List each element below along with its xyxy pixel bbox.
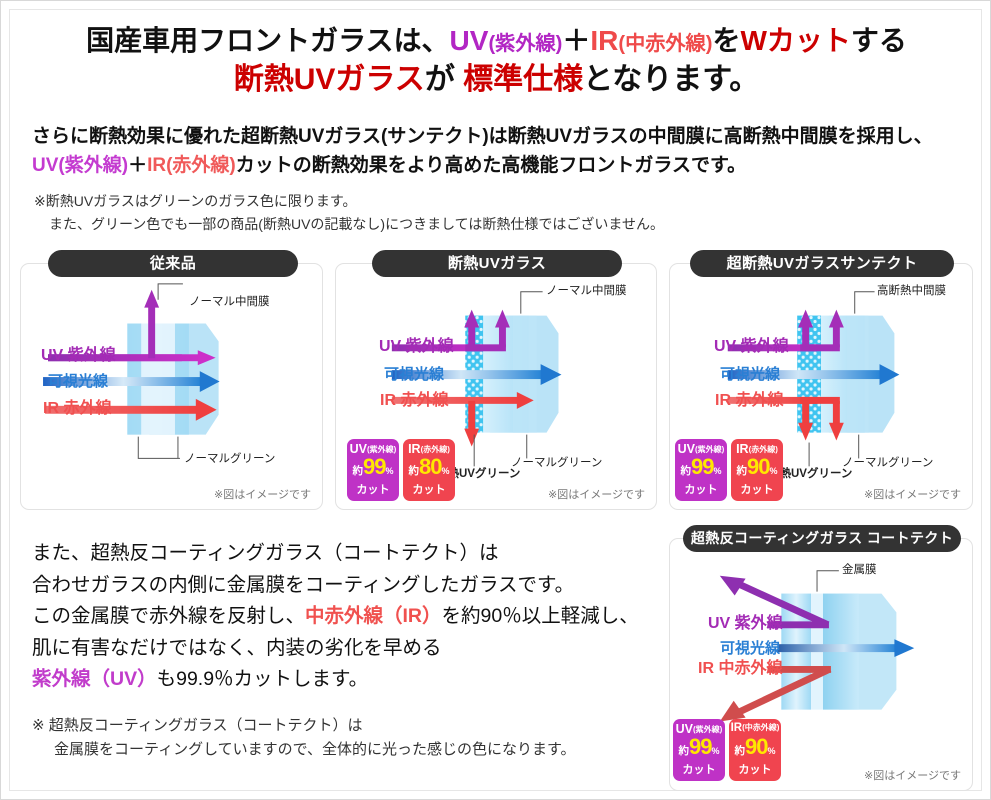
badge-ir-cut: カット bbox=[731, 485, 783, 496]
badge-ir-value: 約90% bbox=[729, 736, 781, 758]
badge-ir-kind: IR(中赤外線) bbox=[729, 723, 781, 735]
coat-tect-line-5: 紫外線（UV）も99.9％カットします。 bbox=[32, 664, 662, 696]
badge-ir: IR(中赤外線) 約90% カット bbox=[729, 719, 781, 781]
badge-group: UV(紫外線) 約99% カット IR(中赤外線) 約90% カット bbox=[673, 719, 781, 781]
label-ir: IR 赤外線 bbox=[380, 393, 448, 409]
badge-ir-kind-paren: (赤外線) bbox=[749, 445, 778, 454]
badge-uv-percent: % bbox=[385, 466, 393, 476]
coat-tect-uv-highlight: 紫外線（UV） bbox=[32, 668, 157, 690]
badge-ir-value: 約80% bbox=[403, 456, 455, 478]
headline-text-d: が bbox=[425, 63, 463, 96]
caption-normal-green: ノーマルグリーン bbox=[842, 458, 933, 470]
headline-line-1: 国産車用フロントガラスは、UV(紫外線)＋IR(中赤外線)をWカットする bbox=[10, 24, 983, 59]
badge-ir-percent: % bbox=[441, 466, 449, 476]
badge-uv-percent: % bbox=[713, 466, 721, 476]
panel-suntect: 超断熱UVガラスサンテクト bbox=[669, 263, 973, 510]
label-visible-light: 可視光線 bbox=[720, 641, 780, 656]
lead-ir-label: IR(赤外線) bbox=[147, 155, 236, 176]
headline-text-e: となります。 bbox=[583, 63, 759, 96]
bottom-disclaimer-line-1: ※ 超熱反コーティングガラス（コートテクト）は bbox=[32, 717, 363, 734]
label-ir: IR 赤外線 bbox=[43, 401, 111, 417]
label-visible-light: 可視光線 bbox=[384, 367, 444, 382]
badge-uv-kind-paren: (紫外線) bbox=[695, 445, 724, 454]
figure-note: ※図はイメージです bbox=[548, 486, 645, 502]
badge-ir-kind-paren: (赤外線) bbox=[421, 445, 450, 454]
headline-text-a: 国産車用フロントガラスは、 bbox=[86, 25, 449, 56]
headline-product-name: 断熱UVガラス bbox=[234, 63, 425, 96]
label-ir: IR 赤外線 bbox=[715, 393, 783, 409]
badge-uv-value: 約99% bbox=[675, 456, 727, 478]
badge-uv-kind-paren: (紫外線) bbox=[693, 725, 722, 734]
badge-uv-number: 99 bbox=[363, 454, 385, 479]
infographic-page: 国産車用フロントガラスは、UV(紫外線)＋IR(中赤外線)をWカットする 断熱U… bbox=[0, 0, 991, 800]
badge-uv-percent: % bbox=[711, 746, 719, 756]
caption-normal-green: ノーマルグリーン bbox=[184, 454, 275, 466]
headline-ir-paren: (中赤外線) bbox=[618, 33, 712, 55]
badge-uv-value: 約99% bbox=[347, 456, 399, 478]
badge-uv-cut: カット bbox=[347, 485, 399, 496]
label-uv: UV 紫外線 bbox=[708, 616, 783, 632]
headline-plus: ＋ bbox=[562, 25, 590, 56]
coat-tect-line-4: 肌に有害なだけではなく、内装の劣化を早める bbox=[32, 633, 662, 665]
figure-note: ※図はイメージです bbox=[214, 486, 311, 502]
headline-line-2: 断熱UVガラスが 標準仕様となります。 bbox=[10, 61, 983, 98]
badge-uv: UV(紫外線) 約99% カット bbox=[675, 439, 727, 501]
badge-ir-number: 90 bbox=[745, 734, 767, 759]
infographic-inner-frame: 国産車用フロントガラスは、UV(紫外線)＋IR(中赤外線)をWカットする 断熱U… bbox=[9, 9, 982, 791]
lead-line-2: UV(紫外線)＋IR(赤外線)カットの断熱効果をより高めた高機能フロントガラスで… bbox=[32, 151, 972, 180]
label-uv: UV 紫外線 bbox=[714, 339, 789, 355]
top-disclaimer-line-1: ※断熱UVガラスはグリーンのガラス色に限ります。 bbox=[34, 193, 357, 209]
panel-heat-insulating-uv: 断熱UVガラス bbox=[335, 263, 657, 510]
badge-uv-approx: 約 bbox=[681, 465, 692, 477]
badge-uv-approx: 約 bbox=[679, 745, 690, 757]
top-disclaimer-line-2: また、グリーン色でも一部の商品(断熱UVの記載なし)につきましては断熱仕様ではご… bbox=[34, 213, 974, 236]
top-disclaimer: ※断熱UVガラスはグリーンのガラス色に限ります。 また、グリーン色でも一部の商品… bbox=[34, 190, 974, 235]
caption-normal-interlayer: ノーマル中間膜 bbox=[546, 286, 627, 298]
badge-ir-number: 90 bbox=[747, 454, 769, 479]
badge-ir-number: 80 bbox=[419, 454, 441, 479]
lead-plus: ＋ bbox=[128, 155, 147, 176]
badge-ir-approx: 約 bbox=[735, 745, 746, 757]
badge-ir-approx: 約 bbox=[737, 465, 748, 477]
coat-tect-line-3: この金属膜で赤外線を反射し、中赤外線（IR）を約90％以上軽減し、 bbox=[32, 601, 662, 633]
badge-uv-cut: カット bbox=[673, 765, 725, 776]
headline-uv: UV bbox=[450, 25, 489, 56]
badge-ir: IR(赤外線) 約90% カット bbox=[731, 439, 783, 501]
badge-uv-number: 99 bbox=[689, 734, 711, 759]
headline-text-b: を bbox=[712, 25, 740, 56]
lead-paragraph: さらに断熱効果に優れた超断熱UVガラス(サンテクト)は断熱UVガラスの中間膜に高… bbox=[32, 122, 972, 181]
figure-note: ※図はイメージです bbox=[864, 486, 961, 502]
headline-ir: IR bbox=[590, 25, 618, 56]
panel-conventional: 従来品 bbox=[20, 263, 323, 510]
label-visible-light: 可視光線 bbox=[720, 367, 780, 382]
label-uv: UV 紫外線 bbox=[41, 348, 116, 364]
headline-standard-spec: 標準仕様 bbox=[463, 63, 583, 96]
label-visible-light: 可視光線 bbox=[48, 374, 108, 389]
headline-wcut: Wカット bbox=[740, 25, 850, 56]
badge-group: UV(紫外線) 約99% カット IR(赤外線) 約90% カット bbox=[675, 439, 783, 501]
badge-ir-percent: % bbox=[767, 746, 775, 756]
caption-normal-green: ノーマルグリーン bbox=[511, 458, 602, 470]
caption-normal-interlayer: ノーマル中間膜 bbox=[189, 297, 270, 309]
bottom-disclaimer-line-2: 金属膜をコーティングしていますので、全体的に光った感じの色になります。 bbox=[32, 738, 662, 762]
badge-uv-kind-paren: (紫外線) bbox=[367, 445, 396, 454]
coat-tect-ir-highlight: 中赤外線（IR） bbox=[305, 605, 442, 627]
page-title: 国産車用フロントガラスは、UV(紫外線)＋IR(中赤外線)をWカットする 断熱U… bbox=[10, 24, 983, 98]
figure-note: ※図はイメージです bbox=[864, 767, 961, 783]
badge-ir-percent: % bbox=[769, 466, 777, 476]
badge-ir: IR(赤外線) 約80% カット bbox=[403, 439, 455, 501]
lead-line-1: さらに断熱効果に優れた超断熱UVガラス(サンテクト)は断熱UVガラスの中間膜に高… bbox=[32, 122, 972, 151]
badge-uv: UV(紫外線) 約99% カット bbox=[673, 719, 725, 781]
badge-uv-approx: 約 bbox=[353, 465, 364, 477]
badge-ir-cut: カット bbox=[403, 485, 455, 496]
coat-tect-line5-b: も99.9％カットします。 bbox=[157, 668, 369, 690]
badge-uv-number: 99 bbox=[691, 454, 713, 479]
lead-uv-label: UV(紫外線) bbox=[32, 155, 128, 176]
caption-metal-film: 金属膜 bbox=[842, 565, 877, 577]
bottom-disclaimer: ※ 超熱反コーティングガラス（コートテクト）は 金属膜をコーティングしていますの… bbox=[32, 714, 662, 763]
coat-tect-line-1: また、超熱反コーティングガラス（コートテクト）は bbox=[32, 538, 662, 570]
panel-coat-tect: 超熱反コーティングガラス コートテクト bbox=[669, 538, 973, 791]
headline-text-c: する bbox=[851, 25, 907, 56]
badge-ir-cut: カット bbox=[729, 765, 781, 776]
coat-tect-line-2: 合わせガラスの内側に金属膜をコーティングしたガラスです。 bbox=[32, 570, 662, 602]
badge-ir-kind-paren: (中赤外線) bbox=[742, 723, 779, 732]
badge-uv: UV(紫外線) 約99% カット bbox=[347, 439, 399, 501]
label-uv: UV 紫外線 bbox=[379, 339, 454, 355]
badge-ir-approx: 約 bbox=[409, 465, 420, 477]
badge-uv-value: 約99% bbox=[673, 736, 725, 758]
badge-uv-cut: カット bbox=[675, 485, 727, 496]
label-ir: IR 中赤外線 bbox=[698, 661, 782, 677]
badge-ir-kind-text: IR bbox=[731, 722, 743, 734]
badge-group: UV(紫外線) 約99% カット IR(赤外線) 約80% カット bbox=[347, 439, 455, 501]
coat-tect-line3-b: を約90％以上軽減し、 bbox=[442, 605, 639, 627]
caption-high-heat-interlayer: 高断熱中間膜 bbox=[877, 286, 946, 298]
headline-uv-paren: (紫外線) bbox=[488, 33, 562, 55]
badge-ir-value: 約90% bbox=[731, 456, 783, 478]
coat-tect-description: また、超熱反コーティングガラス（コートテクト）は 合わせガラスの内側に金属膜をコ… bbox=[32, 538, 662, 696]
coat-tect-line3-a: この金属膜で赤外線を反射し、 bbox=[32, 605, 305, 627]
lead-line2-rest: カットの断熱効果をより高めた高機能フロントガラスです。 bbox=[236, 155, 746, 176]
